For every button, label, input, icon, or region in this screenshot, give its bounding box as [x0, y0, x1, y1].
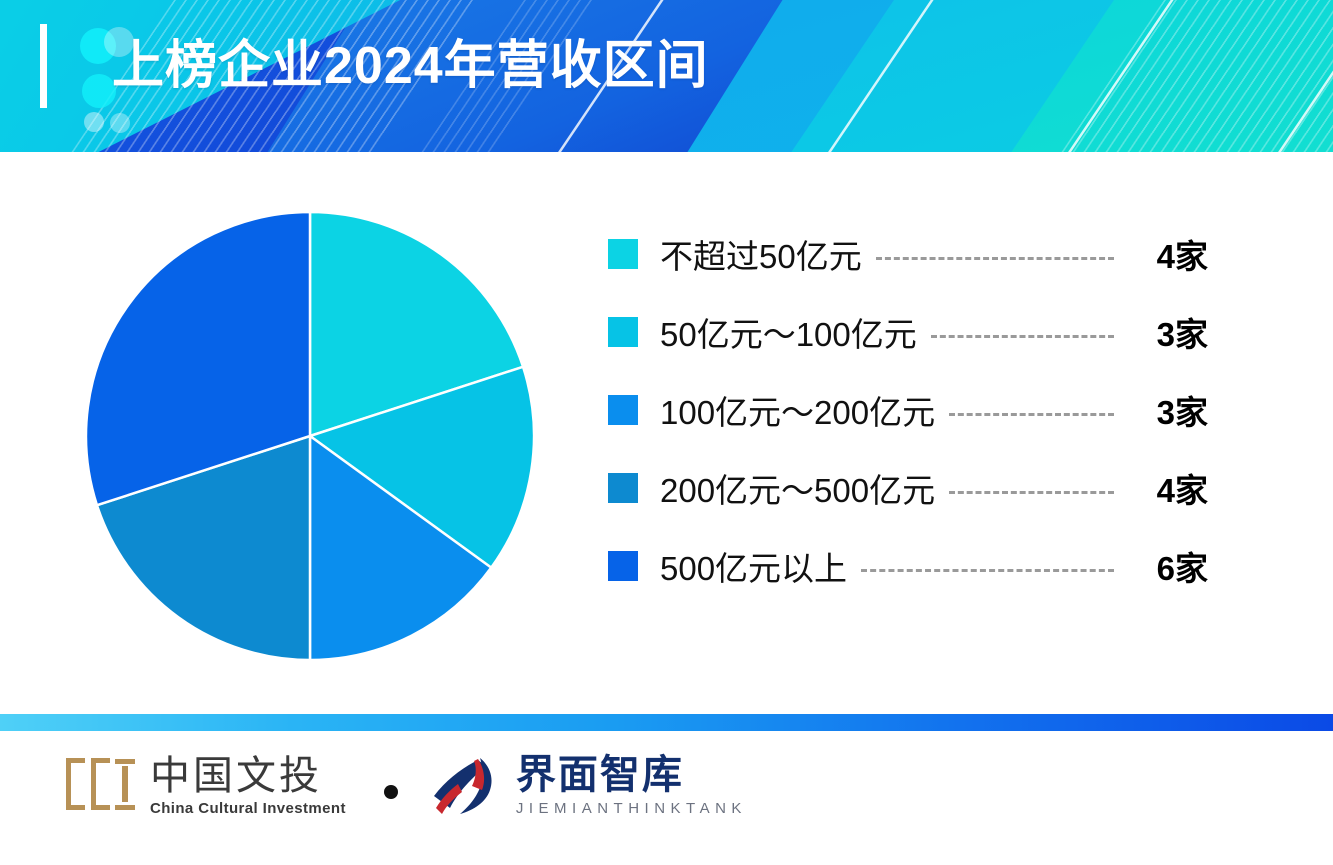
jiemian-arrow-mark-icon	[428, 756, 504, 818]
footer-gradient-bar	[0, 714, 1333, 731]
jiemian-name-cn: 界面智库	[516, 753, 747, 797]
legend-count: 3家	[1128, 308, 1208, 356]
legend-leader-line	[876, 257, 1114, 260]
header-banner: 上榜企业2024年营收区间	[0, 0, 1333, 152]
decorative-circle-5	[110, 113, 130, 133]
cci-bracket-mark-icon	[66, 752, 136, 818]
cci-logo-text: 中国文投 China Cultural Investment	[150, 754, 346, 817]
legend-swatch-icon	[608, 317, 638, 347]
legend-leader-line	[949, 491, 1114, 494]
jiemian-logo-text: 界面智库 JIEMIANTHINKTANK	[516, 753, 747, 817]
legend-label: 50亿元～100亿元	[660, 308, 917, 356]
logo-separator-dot	[384, 785, 398, 799]
legend-count: 4家	[1128, 230, 1208, 278]
legend-leader-line	[949, 413, 1114, 416]
legend-item-2[interactable]: 100亿元～200亿元 3家	[608, 388, 1208, 432]
legend-label: 100亿元～200亿元	[660, 386, 935, 434]
legend-swatch-icon	[608, 239, 638, 269]
cci-name-cn: 中国文投	[150, 754, 346, 798]
legend-swatch-icon	[608, 473, 638, 503]
footer: 中国文投 China Cultural Investment 界面智库 JIEM…	[0, 740, 1333, 860]
legend-swatch-icon	[608, 395, 638, 425]
legend-item-1[interactable]: 50亿元～100亿元 3家	[608, 310, 1208, 354]
legend-label: 不超过50亿元	[660, 230, 862, 278]
legend-count: 6家	[1128, 542, 1208, 590]
pie-chart	[60, 180, 560, 700]
legend-count: 4家	[1128, 464, 1208, 512]
legend-label: 200亿元～500亿元	[660, 464, 935, 512]
footer-logos: 中国文投 China Cultural Investment 界面智库 JIEM…	[66, 752, 747, 818]
legend-leader-line	[861, 569, 1114, 572]
decorative-circle-4	[84, 112, 104, 132]
legend-swatch-icon	[608, 551, 638, 581]
pie-slice-group	[86, 212, 534, 660]
slide-root: 上榜企业2024年营收区间 不超过50亿元 4家 50亿元～100亿元 3家 1…	[0, 0, 1333, 865]
legend-leader-line	[931, 335, 1114, 338]
legend-count: 3家	[1128, 386, 1208, 434]
legend-item-4[interactable]: 500亿元以上 6家	[608, 544, 1208, 588]
cci-name-en: China Cultural Investment	[150, 800, 346, 817]
legend-label: 500亿元以上	[660, 542, 847, 590]
legend-item-0[interactable]: 不超过50亿元 4家	[608, 232, 1208, 276]
title-accent-bar	[40, 24, 47, 108]
decorative-circle-2	[82, 74, 116, 108]
chart-legend: 不超过50亿元 4家 50亿元～100亿元 3家 100亿元～200亿元 3家 …	[608, 232, 1208, 588]
pie-chart-svg	[60, 180, 560, 700]
page-title: 上榜企业2024年营收区间	[112, 24, 709, 108]
legend-item-3[interactable]: 200亿元～500亿元 4家	[608, 466, 1208, 510]
jiemian-name-en: JIEMIANTHINKTANK	[516, 800, 747, 817]
